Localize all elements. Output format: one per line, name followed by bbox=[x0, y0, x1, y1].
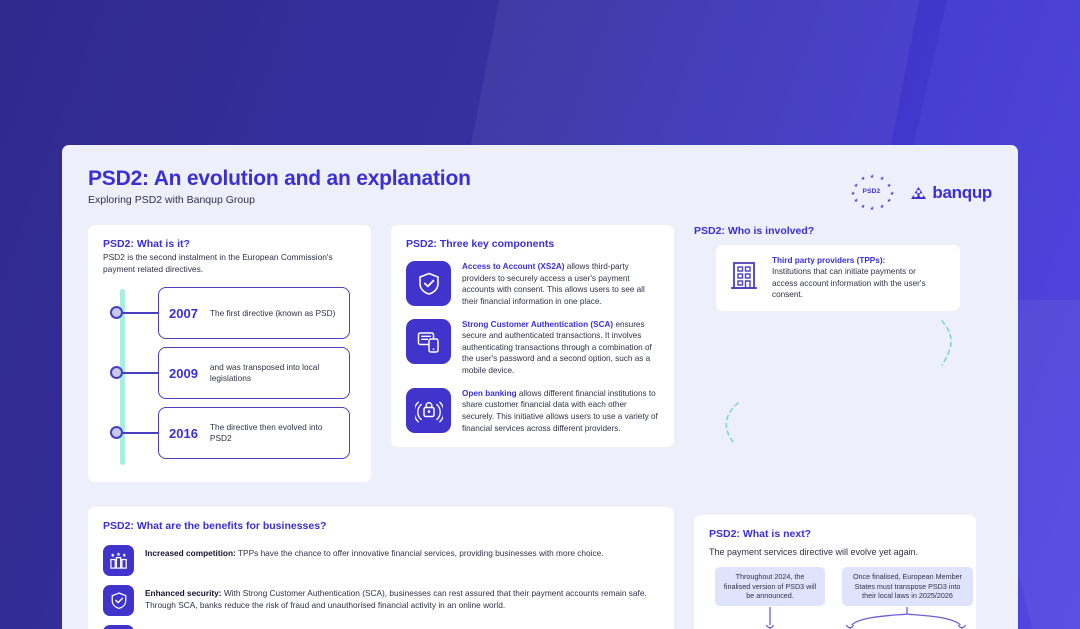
benefit-text: Increased competition: TPPs have the cha… bbox=[145, 545, 604, 559]
involved-lead: Third party providers (TPPs): bbox=[772, 255, 934, 266]
benefit-item: Improved user experience: Rather than sw… bbox=[103, 625, 659, 629]
shield-check-icon bbox=[103, 585, 134, 616]
timeline-year: 2009 bbox=[169, 366, 198, 381]
card-what-is-next: PSD2: What is next? The payment services… bbox=[694, 515, 976, 629]
component-item: Strong Customer Authentication (SCA) ens… bbox=[406, 319, 659, 377]
timeline-item: 2009 and was transposed into local legis… bbox=[127, 347, 356, 399]
benefit-lead: Enhanced security: bbox=[145, 588, 222, 598]
column-what-next: PSD2: What is next? The payment services… bbox=[694, 507, 976, 629]
timeline-connector bbox=[122, 432, 158, 434]
building-icon bbox=[728, 258, 762, 297]
page-header: PSD2: An evolution and an explanation Ex… bbox=[88, 167, 992, 225]
timeline-connector bbox=[122, 312, 158, 314]
timeline-year: 2007 bbox=[169, 306, 198, 321]
next-callouts: Throughout 2024, the finalised version o… bbox=[709, 567, 961, 607]
component-item: Access to Account (XS2A) allows third-pa… bbox=[406, 261, 659, 308]
timeline-item: 2007 The first directive (known as PSD) bbox=[127, 287, 356, 339]
what-is-it-title: PSD2: What is it? bbox=[103, 238, 356, 250]
column-left: PSD2: What is it? PSD2 is the second ins… bbox=[88, 225, 371, 495]
component-item: Open banking allows different financial … bbox=[406, 388, 659, 435]
timeline-box: 2016 The directive then evolved into PSD… bbox=[158, 407, 350, 459]
next-title: PSD2: What is next? bbox=[709, 528, 961, 540]
bottom-columns: PSD2: What are the benefits for business… bbox=[88, 507, 992, 629]
what-is-it-subtitle: PSD2 is the second instalment in the Eur… bbox=[103, 252, 356, 275]
benefit-item: Increased competition: TPPs have the cha… bbox=[103, 545, 659, 576]
psd2-badge-label: PSD2 bbox=[848, 188, 894, 195]
column-right: PSD2: Who is involved? bbox=[694, 225, 976, 495]
benefit-text: Enhanced security: With Strong Customer … bbox=[145, 585, 659, 611]
involved-card-tpps: Third party providers (TPPs):Institution… bbox=[716, 245, 946, 311]
podium-icon bbox=[103, 545, 134, 576]
components-title: PSD2: Three key components bbox=[406, 238, 659, 250]
timeline-year: 2016 bbox=[169, 426, 198, 441]
timeline-text: and was transposed into local legislatio… bbox=[210, 362, 339, 384]
involved-group: Countries:PSD2 was transposed into local… bbox=[694, 245, 976, 495]
infographic-page: PSD2: An evolution and an explanation Ex… bbox=[62, 145, 1018, 629]
timeline-box: 2007 The first directive (known as PSD) bbox=[158, 287, 350, 339]
card-what-is-it: PSD2: What is it? PSD2 is the second ins… bbox=[88, 225, 371, 482]
column-middle: PSD2: Three key components Access to Acc… bbox=[391, 225, 674, 495]
involved-title: PSD2: Who is involved? bbox=[694, 225, 976, 237]
history-timeline: 2007 The first directive (known as PSD) … bbox=[103, 287, 356, 469]
callout-leader-lines bbox=[709, 607, 961, 629]
involved-text: Third party providers (TPPs):Institution… bbox=[772, 255, 934, 301]
component-text: Open banking allows different financial … bbox=[462, 388, 659, 435]
lock-signal-icon bbox=[406, 388, 451, 433]
banqup-mark-icon bbox=[910, 186, 927, 201]
next-lead: The payment services directive will evol… bbox=[709, 547, 961, 557]
benefits-list: Increased competition: TPPs have the cha… bbox=[103, 545, 659, 629]
component-text: Strong Customer Authentication (SCA) ens… bbox=[462, 319, 659, 377]
benefit-text: Improved user experience: Rather than sw… bbox=[145, 625, 659, 629]
component-lead: Access to Account (XS2A) bbox=[462, 262, 565, 271]
component-text: Access to Account (XS2A) allows third-pa… bbox=[462, 261, 659, 308]
banqup-wordmark: banqup bbox=[932, 183, 992, 203]
benefit-body: TPPs have the chance to offer innovative… bbox=[236, 548, 604, 558]
psd2-stars-logo: PSD2 ★★ ★★ ★★ ★★ ★★ ★★ bbox=[848, 175, 894, 211]
benefits-title: PSD2: What are the benefits for business… bbox=[103, 520, 659, 532]
timeline-text: The directive then evolved into PSD2 bbox=[210, 422, 339, 444]
logo-group: PSD2 ★★ ★★ ★★ ★★ ★★ ★★ banqup bbox=[848, 175, 992, 211]
benefit-lead: Increased competition: bbox=[145, 548, 236, 558]
card-benefits: PSD2: What are the benefits for business… bbox=[88, 507, 674, 629]
callout-2024: Throughout 2024, the finalised version o… bbox=[715, 567, 825, 606]
component-lead: Strong Customer Authentication (SCA) bbox=[462, 320, 613, 329]
timeline-text: The first directive (known as PSD) bbox=[210, 308, 335, 319]
banqup-logo: banqup bbox=[910, 183, 992, 203]
involved-body: Institutions that can initiate payments … bbox=[772, 267, 926, 299]
card-key-components: PSD2: Three key components Access to Acc… bbox=[391, 225, 674, 447]
timeline-item: 2016 The directive then evolved into PSD… bbox=[127, 407, 356, 459]
callout-2025-2026: Once finalised, European Member States m… bbox=[842, 567, 973, 606]
timeline-box: 2009 and was transposed into local legis… bbox=[158, 347, 350, 399]
timeline-connector bbox=[122, 372, 158, 374]
component-lead: Open banking bbox=[462, 389, 517, 398]
main-columns: PSD2: What is it? PSD2 is the second ins… bbox=[88, 225, 992, 495]
shield-check-icon bbox=[406, 261, 451, 306]
column-benefits: PSD2: What are the benefits for business… bbox=[88, 507, 674, 629]
user-profile-icon bbox=[103, 625, 134, 629]
desktop-mobile-icon bbox=[406, 319, 451, 364]
benefit-item: Enhanced security: With Strong Customer … bbox=[103, 585, 659, 616]
